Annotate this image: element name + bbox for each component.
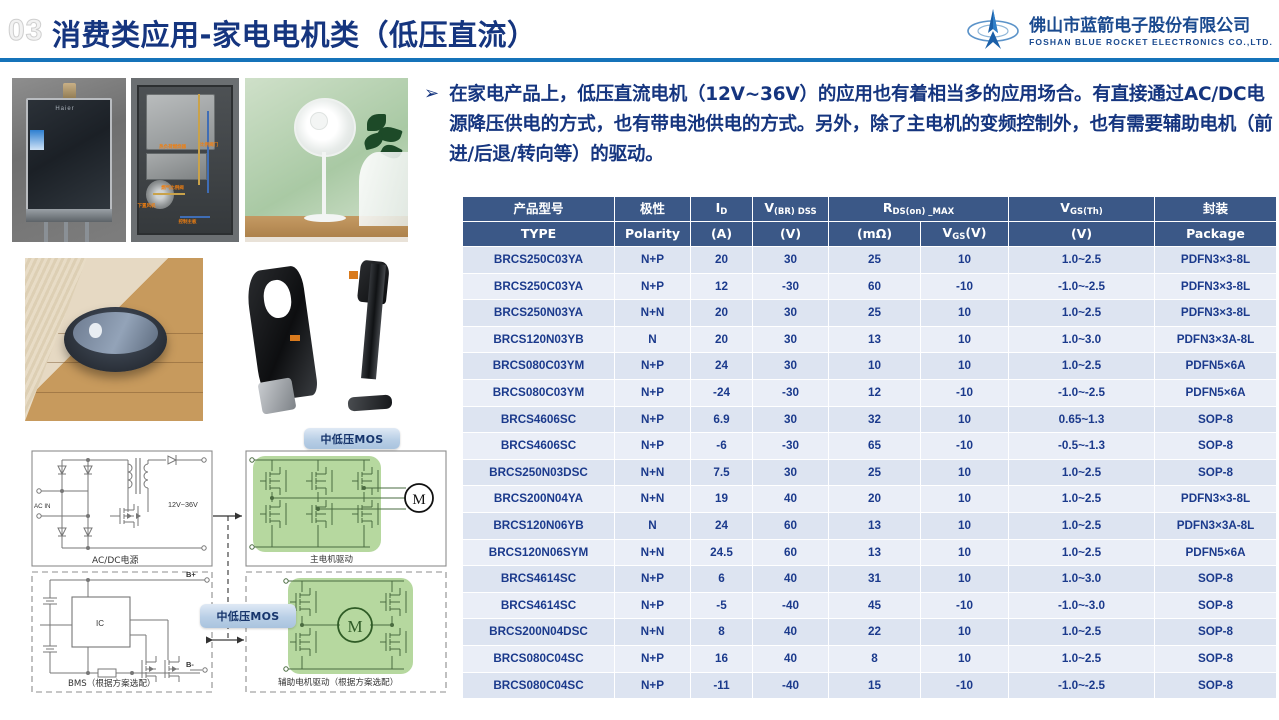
cell-vgs: 10	[921, 326, 1009, 353]
cell-vgsth: -0.5~-1.3	[1009, 433, 1155, 460]
cell-vgsth: 1.0~2.5	[1009, 619, 1155, 646]
th-polarity-en: Polarity	[615, 222, 691, 247]
cell-rdson: 22	[829, 619, 921, 646]
cell-type: BRCS250C03YA	[463, 247, 615, 274]
cell-package: PDFN5×6A	[1155, 379, 1277, 406]
cell-polarity: N+P	[615, 353, 691, 380]
cell-type: BRCS4606SC	[463, 433, 615, 460]
cell-id: 6	[691, 566, 753, 593]
cell-polarity: N+P	[615, 566, 691, 593]
svg-text:M: M	[347, 617, 362, 636]
table-row: BRCS250C03YAN+P203025101.0~2.5PDFN3×3-8L	[463, 247, 1277, 274]
cell-type: BRCS120N06SYM	[463, 539, 615, 566]
cell-package: SOP-8	[1155, 592, 1277, 619]
cell-rdson: 65	[829, 433, 921, 460]
table-row: BRCS080C03YMN+P-24-3012-10-1.0~-2.5PDFN5…	[463, 379, 1277, 406]
cell-vgsth: 1.0~3.0	[1009, 566, 1155, 593]
cell-type: BRCS080C03YM	[463, 379, 615, 406]
cell-vbrdss: 30	[753, 247, 829, 274]
th-rdson: RDS(on) _MAX	[829, 197, 1009, 222]
cell-vgs: -10	[921, 379, 1009, 406]
table-row: BRCS4614SCN+P64031101.0~3.0SOP-8	[463, 566, 1277, 593]
cell-vgs: -10	[921, 273, 1009, 300]
cell-id: -6	[691, 433, 753, 460]
cell-rdson: 13	[829, 512, 921, 539]
cell-vgs: 10	[921, 406, 1009, 433]
cell-vbrdss: 40	[753, 566, 829, 593]
cell-id: 6.9	[691, 406, 753, 433]
cell-id: 20	[691, 247, 753, 274]
cell-polarity: N+N	[615, 619, 691, 646]
table-row: BRCS4614SCN+P-5-4045-10-1.0~-3.0SOP-8	[463, 592, 1277, 619]
slide-page: 03 消费类应用-家电电机类（低压直流） 佛山市蓝箭电子股份有限公司 FOSHA…	[0, 0, 1279, 720]
cell-vbrdss: 60	[753, 512, 829, 539]
th-vbrdss: V(BR) DSS	[753, 197, 829, 222]
table-row: BRCS120N03YBN203013101.0~3.0PDFN3×3A-8L	[463, 326, 1277, 353]
cell-type: BRCS080C03YM	[463, 353, 615, 380]
cell-polarity: N+P	[615, 645, 691, 672]
cell-vbrdss: -40	[753, 592, 829, 619]
cell-id: -11	[691, 672, 753, 699]
cell-package: PDFN3×3A-8L	[1155, 326, 1277, 353]
th-package-en: Package	[1155, 222, 1277, 247]
cell-polarity: N	[615, 326, 691, 353]
th-polarity-cn: 极性	[615, 197, 691, 222]
cell-id: 24	[691, 512, 753, 539]
cell-vgs: -10	[921, 433, 1009, 460]
cell-vgsth: -1.0~-2.5	[1009, 672, 1155, 699]
cell-polarity: N	[615, 512, 691, 539]
cell-polarity: N+N	[615, 300, 691, 327]
th-id: ID	[691, 197, 753, 222]
cell-rdson: 32	[829, 406, 921, 433]
th-vgsth: VGS(Th)	[1009, 197, 1155, 222]
bullet-text: 在家电产品上，低压直流电机（12V~36V）的应用也有着相当多的应用场合。有直接…	[449, 80, 1277, 170]
cell-rdson: 12	[829, 379, 921, 406]
svg-text:辅助电机驱动（根据方案选配）: 辅助电机驱动（根据方案选配）	[278, 676, 398, 688]
table-header-row-2: TYPE Polarity (A) (V) (mΩ) VGS(V) (V) Pa…	[463, 222, 1277, 247]
cell-vgsth: 1.0~2.5	[1009, 300, 1155, 327]
photo-floor-fan	[245, 78, 408, 242]
cell-vgs: -10	[921, 672, 1009, 699]
cell-id: 24	[691, 353, 753, 380]
table-row: BRCS250C03YAN+P12-3060-10-1.0~-2.5PDFN3×…	[463, 273, 1277, 300]
cell-rdson: 13	[829, 326, 921, 353]
cell-vbrdss: 60	[753, 539, 829, 566]
cell-vgsth: -1.0~-2.5	[1009, 379, 1155, 406]
cell-rdson: 15	[829, 672, 921, 699]
cell-type: BRCS4614SC	[463, 592, 615, 619]
cell-package: PDFN5×6A	[1155, 539, 1277, 566]
cell-vbrdss: 30	[753, 406, 829, 433]
label-mos-main: 中低压MOS	[304, 428, 400, 449]
cell-vbrdss: 30	[753, 326, 829, 353]
bullet-paragraph: ➢ 在家电产品上，低压直流电机（12V~36V）的应用也有着相当多的应用场合。有…	[424, 80, 1279, 170]
cell-polarity: N+P	[615, 592, 691, 619]
cell-package: PDFN3×3-8L	[1155, 300, 1277, 327]
svg-text:AC/DC电源: AC/DC电源	[92, 554, 139, 566]
cell-rdson: 8	[829, 645, 921, 672]
table-row: BRCS250N03YAN+N203025101.0~2.5PDFN3×3-8L	[463, 300, 1277, 327]
cell-polarity: N+N	[615, 539, 691, 566]
cell-package: PDFN3×3A-8L	[1155, 512, 1277, 539]
cell-type: BRCS080C04SC	[463, 672, 615, 699]
cell-polarity: N+P	[615, 433, 691, 460]
cell-vgsth: 1.0~2.5	[1009, 459, 1155, 486]
cell-vbrdss: -40	[753, 672, 829, 699]
cell-polarity: N+P	[615, 247, 691, 274]
cell-type: BRCS4614SC	[463, 566, 615, 593]
page-title: 消费类应用-家电电机类（低压直流）	[52, 12, 537, 54]
cell-vgs: 10	[921, 247, 1009, 274]
cell-vgs: -10	[921, 592, 1009, 619]
cell-vgs: 10	[921, 459, 1009, 486]
system-block-diagram: AC IN 12V~36V AC/DC电源 IC B+	[10, 420, 460, 720]
cell-id: -24	[691, 379, 753, 406]
cell-vgsth: -1.0~-3.0	[1009, 592, 1155, 619]
cell-type: BRCS080C04SC	[463, 645, 615, 672]
th-unit-mohm: (mΩ)	[829, 222, 921, 247]
table-row: BRCS4606SCN+P6.93032100.65~1.3SOP-8	[463, 406, 1277, 433]
cell-polarity: N+P	[615, 379, 691, 406]
svg-text:IC: IC	[96, 619, 104, 628]
cell-vbrdss: 40	[753, 645, 829, 672]
cell-vgs: 10	[921, 645, 1009, 672]
th-unit-a: (A)	[691, 222, 753, 247]
cell-package: SOP-8	[1155, 406, 1277, 433]
table-row: BRCS200N04YAN+N194020101.0~2.5PDFN3×3-8L	[463, 486, 1277, 513]
cell-package: PDFN3×3-8L	[1155, 486, 1277, 513]
cell-rdson: 13	[829, 539, 921, 566]
cell-vbrdss: 30	[753, 300, 829, 327]
th-type-cn: 产品型号	[463, 197, 615, 222]
cell-vgsth: 0.65~1.3	[1009, 406, 1155, 433]
cell-type: BRCS4606SC	[463, 406, 615, 433]
cell-type: BRCS200N04YA	[463, 486, 615, 513]
cell-polarity: N+P	[615, 406, 691, 433]
cell-rdson: 60	[829, 273, 921, 300]
cell-package: SOP-8	[1155, 459, 1277, 486]
table-row: BRCS080C03YMN+P243010101.0~2.5PDFN5×6A	[463, 353, 1277, 380]
th-type-en: TYPE	[463, 222, 615, 247]
cell-type: BRCS120N06YB	[463, 512, 615, 539]
cell-vgs: 10	[921, 353, 1009, 380]
svg-text:M: M	[412, 492, 425, 508]
photo-water-heater: Haier	[12, 78, 126, 242]
cell-rdson: 25	[829, 247, 921, 274]
th-unit-v1: (V)	[753, 222, 829, 247]
photo-heater-inside: 热负荷燃烧器 比例阀门 燃气比例阀 下置风机 控制主板	[131, 78, 239, 242]
company-logo: 佛山市蓝箭电子股份有限公司 FOSHAN BLUE ROCKET ELECTRO…	[965, 6, 1273, 52]
label-mos-aux: 中低压MOS	[200, 604, 296, 628]
cell-type: BRCS250C03YA	[463, 273, 615, 300]
cell-id: 16	[691, 645, 753, 672]
photo-stick-vacuum	[240, 258, 408, 418]
svg-text:BMS（根据方案选配）: BMS（根据方案选配）	[68, 677, 156, 689]
cell-polarity: N+P	[615, 273, 691, 300]
cell-vgs: 10	[921, 512, 1009, 539]
cell-id: 12	[691, 273, 753, 300]
cell-vgsth: 1.0~2.5	[1009, 486, 1155, 513]
cell-id: 8	[691, 619, 753, 646]
cell-vbrdss: 30	[753, 353, 829, 380]
cell-rdson: 10	[829, 353, 921, 380]
table-body: BRCS250C03YAN+P203025101.0~2.5PDFN3×3-8L…	[463, 247, 1277, 699]
cell-rdson: 45	[829, 592, 921, 619]
cell-package: SOP-8	[1155, 566, 1277, 593]
cell-package: PDFN3×3-8L	[1155, 273, 1277, 300]
slide-header: 03 消费类应用-家电电机类（低压直流） 佛山市蓝箭电子股份有限公司 FOSHA…	[0, 0, 1279, 62]
cell-type: BRCS120N03YB	[463, 326, 615, 353]
svg-text:B-: B-	[186, 660, 194, 669]
cell-vbrdss: 30	[753, 459, 829, 486]
svg-text:B+: B+	[186, 570, 196, 579]
cell-vbrdss: -30	[753, 379, 829, 406]
cell-vgsth: 1.0~2.5	[1009, 512, 1155, 539]
cell-id: 20	[691, 300, 753, 327]
th-unit-v2: (V)	[1009, 222, 1155, 247]
cell-polarity: N+N	[615, 486, 691, 513]
photo-robot-vacuum	[25, 258, 203, 421]
svg-text:主电机驱动: 主电机驱动	[310, 553, 353, 565]
cell-package: PDFN5×6A	[1155, 353, 1277, 380]
blue-rocket-logo-icon	[965, 7, 1021, 51]
table-row: BRCS250N03DSCN+N7.53025101.0~2.5SOP-8	[463, 459, 1277, 486]
table-row: BRCS080C04SCN+P-11-4015-10-1.0~-2.5SOP-8	[463, 672, 1277, 699]
cell-vgsth: 1.0~2.5	[1009, 353, 1155, 380]
th-package-cn: 封装	[1155, 197, 1277, 222]
cell-package: SOP-8	[1155, 433, 1277, 460]
cell-package: SOP-8	[1155, 619, 1277, 646]
cell-vgsth: -1.0~-2.5	[1009, 273, 1155, 300]
cell-package: SOP-8	[1155, 672, 1277, 699]
cell-vgs: 10	[921, 539, 1009, 566]
cell-vgsth: 1.0~3.0	[1009, 326, 1155, 353]
cell-type: BRCS200N04DSC	[463, 619, 615, 646]
cell-vgsth: 1.0~2.5	[1009, 247, 1155, 274]
cell-polarity: N+P	[615, 672, 691, 699]
table-row: BRCS120N06SYMN+N24.56013101.0~2.5PDFN5×6…	[463, 539, 1277, 566]
cell-type: BRCS250N03DSC	[463, 459, 615, 486]
cell-polarity: N+N	[615, 459, 691, 486]
cell-vgs: 10	[921, 619, 1009, 646]
product-spec-table: 产品型号 极性 ID V(BR) DSS RDS(on) _MAX VGS(Th…	[462, 196, 1277, 699]
svg-text:12V~36V: 12V~36V	[168, 500, 198, 509]
cell-vgs: 10	[921, 486, 1009, 513]
cell-package: SOP-8	[1155, 645, 1277, 672]
cell-id: 24.5	[691, 539, 753, 566]
cell-vgsth: 1.0~2.5	[1009, 539, 1155, 566]
cell-vbrdss: -30	[753, 273, 829, 300]
bullet-arrow-icon: ➢	[424, 80, 439, 170]
logo-text: 佛山市蓝箭电子股份有限公司 FOSHAN BLUE ROCKET ELECTRO…	[1029, 11, 1273, 47]
cell-rdson: 25	[829, 459, 921, 486]
table-header-row-1: 产品型号 极性 ID V(BR) DSS RDS(on) _MAX VGS(Th…	[463, 197, 1277, 222]
company-name-en: FOSHAN BLUE ROCKET ELECTRONICS CO.,LTD.	[1029, 37, 1273, 47]
cell-vbrdss: 40	[753, 619, 829, 646]
cell-vgsth: 1.0~2.5	[1009, 645, 1155, 672]
cell-vbrdss: -30	[753, 433, 829, 460]
company-name-cn: 佛山市蓝箭电子股份有限公司	[1029, 11, 1273, 36]
cell-rdson: 25	[829, 300, 921, 327]
cell-type: BRCS250N03YA	[463, 300, 615, 327]
cell-rdson: 20	[829, 486, 921, 513]
cell-package: PDFN3×3-8L	[1155, 247, 1277, 274]
cell-vgs: 10	[921, 566, 1009, 593]
cell-vbrdss: 40	[753, 486, 829, 513]
cell-rdson: 31	[829, 566, 921, 593]
table-row: BRCS200N04DSCN+N84022101.0~2.5SOP-8	[463, 619, 1277, 646]
table-row: BRCS4606SCN+P-6-3065-10-0.5~-1.3SOP-8	[463, 433, 1277, 460]
cell-id: 19	[691, 486, 753, 513]
table-row: BRCS080C04SCN+P16408101.0~2.5SOP-8	[463, 645, 1277, 672]
cell-id: 7.5	[691, 459, 753, 486]
cell-id: -5	[691, 592, 753, 619]
th-vgs-v: VGS(V)	[921, 222, 1009, 247]
svg-text:AC IN: AC IN	[34, 503, 51, 510]
title-divider	[0, 58, 1279, 62]
cell-id: 20	[691, 326, 753, 353]
cell-vgs: 10	[921, 300, 1009, 327]
table-row: BRCS120N06YBN246013101.0~2.5PDFN3×3A-8L	[463, 512, 1277, 539]
slide-number: 03	[8, 14, 43, 48]
